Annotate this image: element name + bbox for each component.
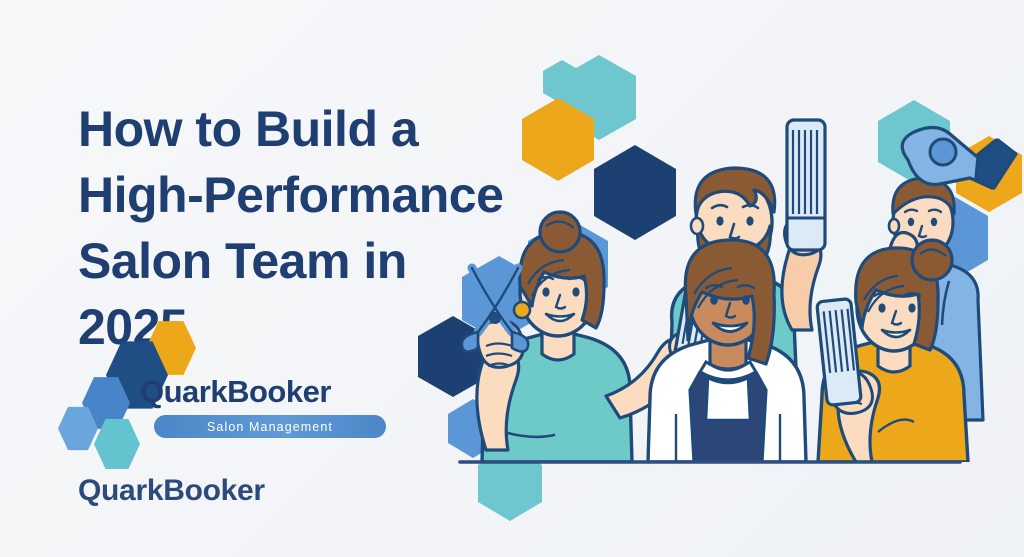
comb-icon-raised (787, 120, 825, 250)
footer-brand-name: QuarkBooker (78, 474, 265, 508)
logo-wordmark: QuarkBooker (140, 374, 331, 410)
blog-hero-banner: How to Build a High-Performance Salon Te… (0, 0, 1024, 557)
hairdryer-icon (902, 127, 1016, 188)
logo-tagline-pill: Salon Management (154, 415, 386, 438)
quarkbooker-logo: QuarkBooker Salon Management (74, 318, 374, 468)
